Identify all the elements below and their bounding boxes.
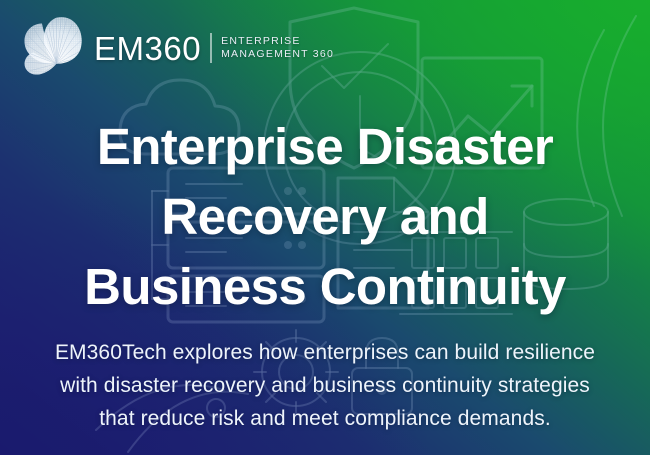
banner-graphic: EM360 ENTERPRISE MANAGEMENT 360 Enterpri… bbox=[0, 0, 650, 455]
page-title-line-1: Enterprise Disaster bbox=[19, 112, 631, 182]
page-title-line-2: Recovery and bbox=[19, 182, 631, 252]
page-title-line-3: Business Continuity bbox=[19, 252, 631, 322]
page-subtitle: EM360Tech explores how enterprises can b… bbox=[53, 336, 598, 435]
page-title: Enterprise Disaster Recovery and Busines… bbox=[19, 112, 631, 322]
banner-content: Enterprise Disaster Recovery and Busines… bbox=[0, 0, 650, 455]
